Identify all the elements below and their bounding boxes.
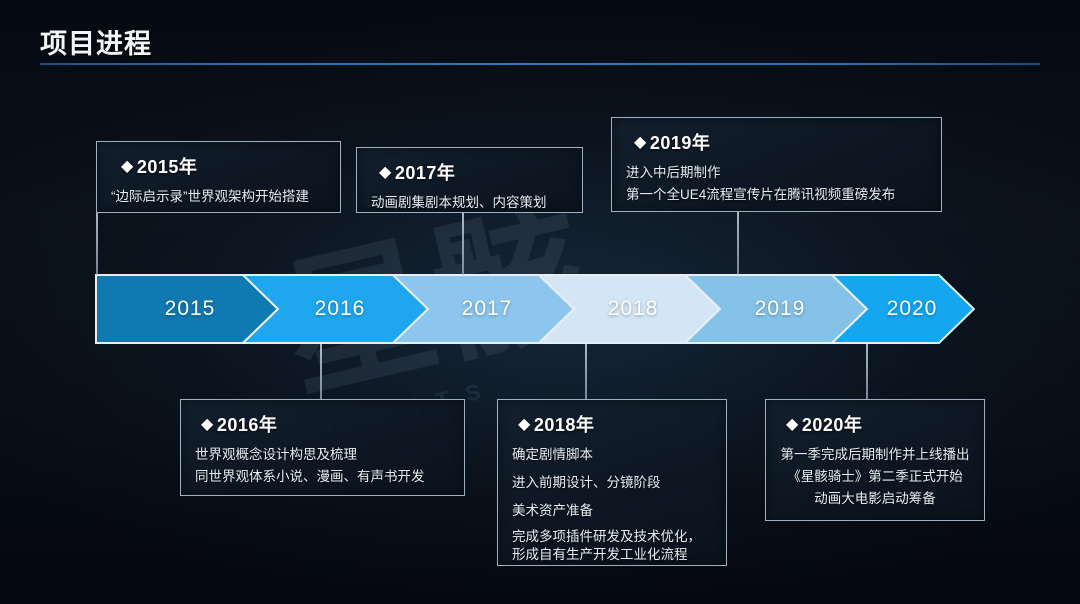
callout-2015-line-1: “边际启示录”世界观架构开始搭建 <box>111 186 326 208</box>
callout-2020-year: ◆2020年 <box>786 411 970 437</box>
callout-2019-year: ◆2019年 <box>634 129 927 155</box>
connector-2015 <box>96 213 98 275</box>
callout-2016[interactable]: ◆2016年 世界观概念设计构思及梳理 同世界观体系小说、漫画、有声书开发 <box>180 399 465 496</box>
callout-2020-line-1: 第一季完成后期制作并上线播出 <box>780 444 970 466</box>
bullet-icon: ◆ <box>379 162 392 182</box>
callout-2016-year: ◆2016年 <box>201 411 450 437</box>
bullet-icon: ◆ <box>201 414 214 434</box>
connector-2020 <box>866 344 868 400</box>
callout-2019[interactable]: ◆2019年 进入中后期制作 第一个全UE4流程宣传片在腾讯视频重磅发布 <box>611 117 942 212</box>
callout-2016-line-1: 世界观概念设计构思及梳理 <box>195 444 450 466</box>
connector-2016 <box>320 344 322 400</box>
callout-2020-line-2: 《星骸骑士》第二季正式开始 <box>780 466 970 488</box>
callout-2015[interactable]: ◆2015年 “边际启示录”世界观架构开始搭建 <box>96 141 341 213</box>
callout-2018-line-2: 进入前期设计、分镜阶段 <box>512 472 712 494</box>
bullet-icon: ◆ <box>518 414 531 434</box>
connector-2019 <box>737 212 739 275</box>
callout-2016-line-2: 同世界观体系小说、漫画、有声书开发 <box>195 466 450 488</box>
callout-2018-line-1: 确定剧情脚本 <box>512 444 712 466</box>
connector-2018 <box>585 344 587 400</box>
callout-2015-year: ◆2015年 <box>121 153 326 179</box>
slide-root: 星骸 NIGHTS 项目进程 ◆2015年 “边际启示录”世界观架构开始搭建 ◆… <box>0 0 1080 604</box>
callout-2019-line-1: 进入中后期制作 <box>626 162 927 184</box>
bullet-icon: ◆ <box>786 414 799 434</box>
callout-2017[interactable]: ◆2017年 动画剧集剧本规划、内容策划 <box>356 147 583 213</box>
callout-2020[interactable]: ◆2020年 第一季完成后期制作并上线播出 《星骸骑士》第二季正式开始 动画大电… <box>765 399 985 521</box>
timeline-svg <box>95 274 975 344</box>
connector-2017 <box>462 213 464 275</box>
bullet-icon: ◆ <box>121 156 134 176</box>
callout-2018-year: ◆2018年 <box>518 411 712 437</box>
title-underline <box>40 63 1040 65</box>
callout-2018-line-4: 完成多项插件研发及技术优化， <box>512 528 712 546</box>
callout-2017-year: ◆2017年 <box>379 159 568 185</box>
callout-2018[interactable]: ◆2018年 确定剧情脚本 进入前期设计、分镜阶段 美术资产准备 完成多项插件研… <box>497 399 727 566</box>
callout-2018-line-3: 美术资产准备 <box>512 500 712 522</box>
callout-2018-line-5: 形成自有生产开发工业化流程 <box>512 546 712 564</box>
timeline-segment-2015 <box>96 275 278 343</box>
timeline-chevron-bar: 2015 2016 2017 2018 2019 2020 <box>95 274 975 344</box>
callout-2020-line-3: 动画大电影启动筹备 <box>780 488 970 510</box>
bullet-icon: ◆ <box>634 132 647 152</box>
callout-2017-line-1: 动画剧集剧本规划、内容策划 <box>371 192 568 214</box>
page-title: 项目进程 <box>40 22 152 61</box>
callout-2019-line-2: 第一个全UE4流程宣传片在腾讯视频重磅发布 <box>626 184 927 206</box>
slide-header: 项目进程 <box>0 0 1080 70</box>
